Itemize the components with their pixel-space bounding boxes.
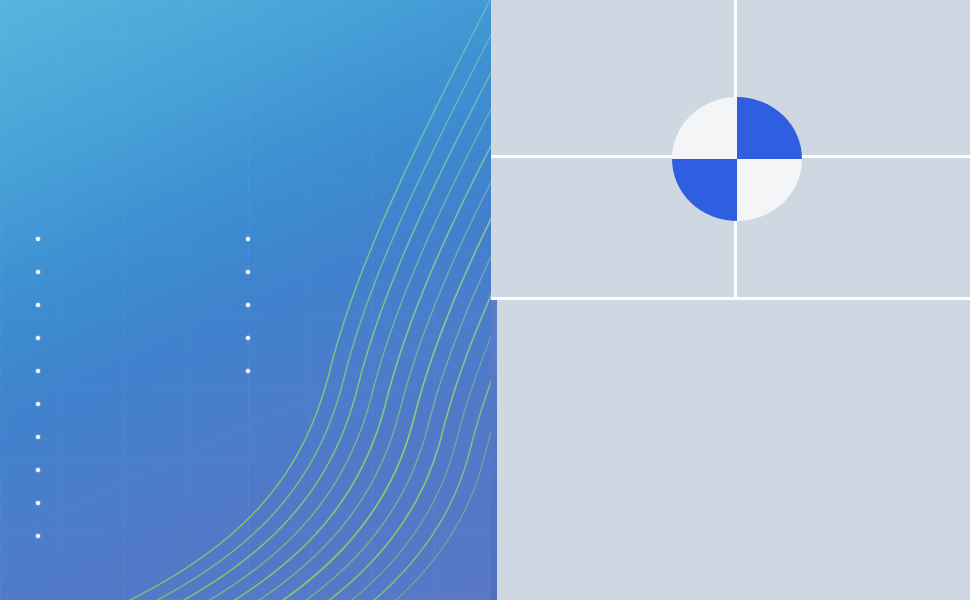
list-item [246, 354, 491, 387]
bullet-dot-icon [36, 336, 40, 340]
test-list-left-column [36, 222, 266, 552]
list-item [36, 519, 266, 552]
list-item [36, 420, 266, 453]
list-item [36, 354, 266, 387]
left-info-panel [0, 0, 491, 600]
bullet-dot-icon [246, 336, 250, 340]
list-item [36, 255, 266, 288]
photo-cleanroom-production-line [491, 300, 970, 600]
list-item [246, 288, 491, 321]
photo-gallery [491, 0, 970, 600]
bullet-dot-icon [246, 303, 250, 307]
quadrant-badge [672, 97, 802, 221]
bullet-dot-icon [36, 435, 40, 439]
bullet-dot-icon [36, 303, 40, 307]
bullet-dot-icon [36, 501, 40, 505]
list-item [36, 222, 266, 255]
list-item [36, 321, 266, 354]
bullet-dot-icon [36, 534, 40, 538]
list-item [36, 486, 266, 519]
bullet-dot-icon [246, 237, 250, 241]
list-item [36, 453, 266, 486]
slide-root [0, 0, 970, 600]
list-item [36, 288, 266, 321]
test-list-right-column [246, 222, 491, 387]
bullet-dot-icon [36, 270, 40, 274]
list-item [246, 321, 491, 354]
list-item [36, 387, 266, 420]
list-item [246, 222, 491, 255]
list-item [246, 255, 491, 288]
bullet-dot-icon [36, 468, 40, 472]
bullet-dot-icon [36, 237, 40, 241]
bullet-dot-icon [36, 369, 40, 373]
bullet-dot-icon [246, 270, 250, 274]
bullet-dot-icon [36, 402, 40, 406]
bottom-photo-left-rail [491, 300, 497, 600]
bullet-dot-icon [246, 369, 250, 373]
